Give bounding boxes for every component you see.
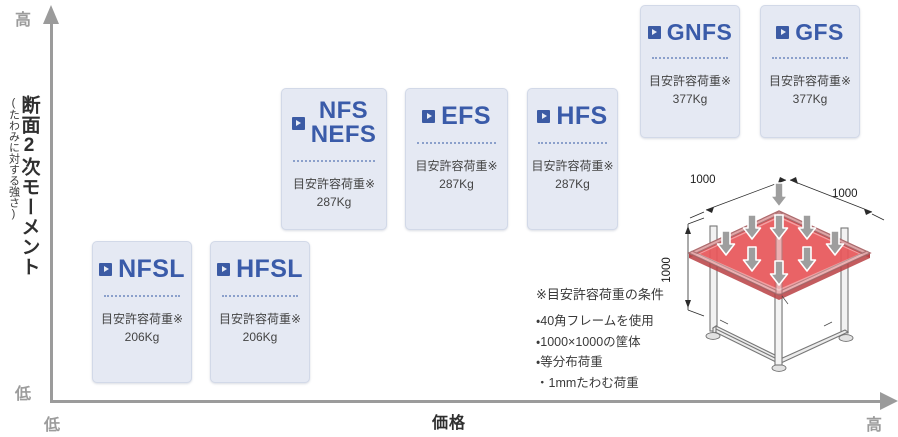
product-card-gnfs[interactable]: GNFS 目安許容荷重※ 377Kg: [640, 5, 740, 138]
product-name: NFSL: [118, 256, 185, 282]
dimension-label-width: 1000: [690, 174, 716, 186]
product-name: HFSL: [236, 256, 303, 282]
y-axis-low-label: 低: [15, 380, 31, 404]
dimension-label-depth: 1000: [832, 188, 858, 200]
card-header: HFS: [528, 103, 617, 129]
card-divider: [538, 142, 607, 144]
card-header: HFSL: [211, 256, 309, 282]
product-card-nfs-nefs[interactable]: NFS NEFS 目安許容荷重※ 287Kg: [281, 88, 387, 230]
y-axis-title-main: 断面2次モーメント: [20, 95, 39, 277]
play-icon: [422, 110, 435, 123]
product-load-note: 目安許容荷重※ 287Kg: [293, 175, 375, 211]
card-header: NFS NEFS: [282, 99, 386, 147]
card-divider: [222, 295, 298, 297]
play-icon: [776, 26, 789, 39]
product-name: NFS NEFS: [311, 99, 377, 147]
product-name: EFS: [441, 103, 491, 129]
play-icon: [99, 263, 112, 276]
play-icon: [537, 110, 550, 123]
product-name: GFS: [795, 20, 843, 44]
x-axis-arrow-icon: [880, 392, 898, 410]
dimension-label-height: 1000: [661, 257, 673, 283]
card-divider: [417, 142, 496, 144]
card-header: NFSL: [93, 256, 191, 282]
card-divider: [652, 57, 728, 59]
play-icon: [217, 263, 230, 276]
product-load-note: 目安許容荷重※ 287Kg: [531, 157, 613, 193]
card-header: EFS: [406, 103, 507, 129]
x-axis-title: 価格: [0, 409, 898, 433]
product-card-efs[interactable]: EFS 目安許容荷重※ 287Kg: [405, 88, 508, 230]
product-load-note: 目安許容荷重※ 206Kg: [219, 310, 301, 346]
product-load-note: 目安許容荷重※ 377Kg: [769, 72, 851, 108]
product-load-note: 目安許容荷重※ 206Kg: [101, 310, 183, 346]
y-axis-line: [50, 22, 53, 403]
product-card-hfs[interactable]: HFS 目安許容荷重※ 287Kg: [527, 88, 618, 230]
y-axis-title-sub: (たわみに対する強さ): [8, 95, 19, 220]
product-load-note: 目安許容荷重※ 377Kg: [649, 72, 731, 108]
card-divider: [293, 160, 374, 162]
card-divider: [772, 57, 848, 59]
y-axis-arrow-icon: [43, 5, 59, 24]
card-header: GFS: [761, 20, 859, 44]
product-card-nfsl[interactable]: NFSL 目安許容荷重※ 206Kg: [92, 241, 192, 383]
card-divider: [104, 295, 180, 297]
product-load-note: 目安許容荷重※ 287Kg: [415, 157, 497, 193]
product-name: GNFS: [667, 20, 733, 44]
play-icon: [648, 26, 661, 39]
product-card-hfsl[interactable]: HFSL 目安許容荷重※ 206Kg: [210, 241, 310, 383]
positioning-chart: 高 低 低 高 価格 断面2次モーメント (たわみに対する強さ) NFSL 目安…: [0, 0, 898, 437]
frame-illustration: 1000 1000 1000: [660, 168, 898, 383]
product-name: HFS: [556, 103, 607, 129]
card-header: GNFS: [641, 20, 739, 44]
x-axis-line: [50, 400, 888, 403]
product-card-gfs[interactable]: GFS 目安許容荷重※ 377Kg: [760, 5, 860, 138]
frame-diagram-svg: [660, 168, 898, 383]
y-axis-title: 断面2次モーメント (たわみに対する強さ): [0, 95, 46, 375]
play-icon: [292, 117, 305, 130]
y-axis-high-label: 高: [15, 6, 31, 30]
